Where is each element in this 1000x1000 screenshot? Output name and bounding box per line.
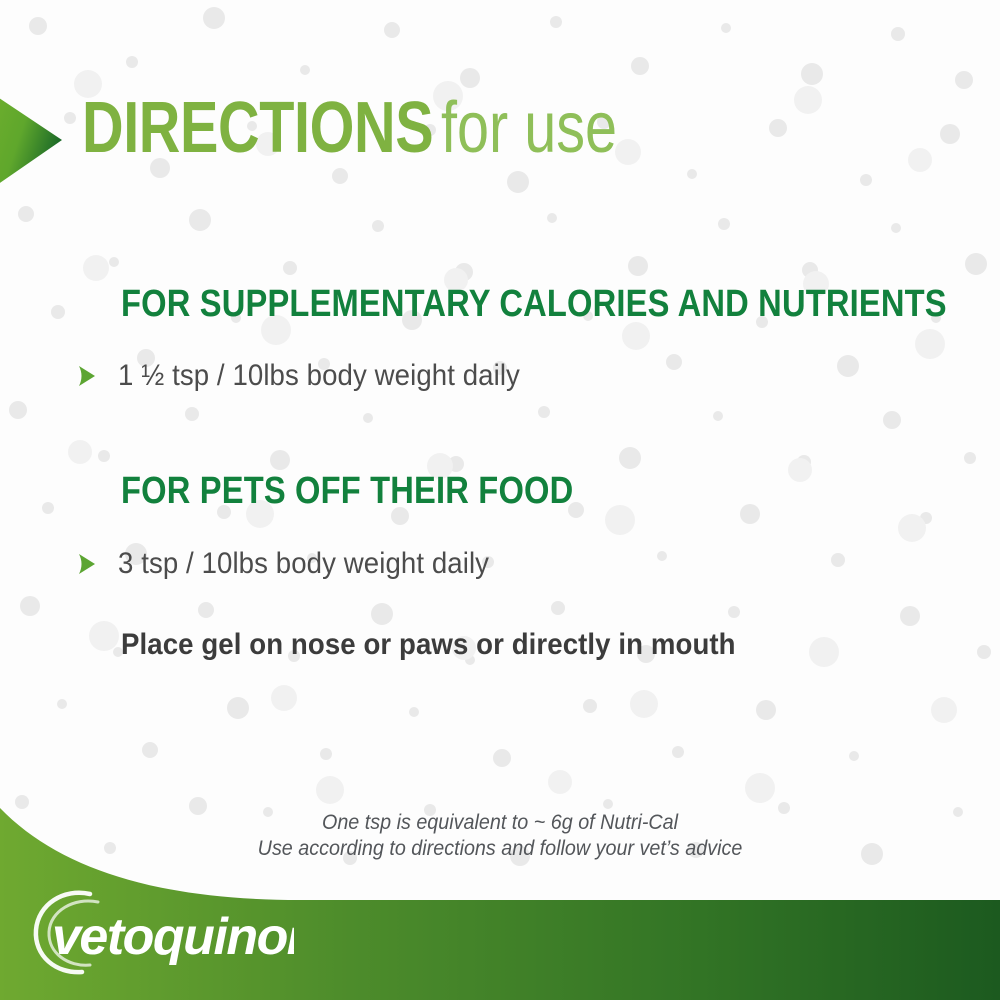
triangle-right-bullet-icon (78, 366, 96, 386)
triangle-right-bullet-icon (78, 554, 96, 574)
page-title-light: for use (441, 92, 617, 164)
dosage-bullet-row: 3 tsp / 10lbs body weight daily (78, 547, 521, 581)
dosage-text: 3 tsp / 10lbs body weight daily (118, 547, 489, 581)
page-title-bold: DIRECTIONS (82, 92, 433, 164)
section-heading: FOR SUPPLEMENTARY CALORIES AND NUTRIENTS (121, 283, 947, 326)
arrow-right-leaf-icon (0, 88, 70, 198)
vetoquinol-logo: vetoquinoL (24, 878, 294, 982)
application-note: Place gel on nose or paws or directly in… (121, 628, 736, 662)
logo-wordmark: vetoquinoL (52, 908, 294, 966)
page-title: DIRECTIONSfor use (82, 92, 661, 164)
dosage-text: 1 ½ tsp / 10lbs body weight daily (118, 359, 520, 393)
section-heading: FOR PETS OFF THEIR FOOD (121, 470, 573, 513)
dosage-bullet-row: 1 ½ tsp / 10lbs body weight daily (78, 359, 555, 393)
directions-for-use-panel: DIRECTIONSfor use FOR SUPPLEMENTARY CALO… (0, 0, 1000, 1000)
